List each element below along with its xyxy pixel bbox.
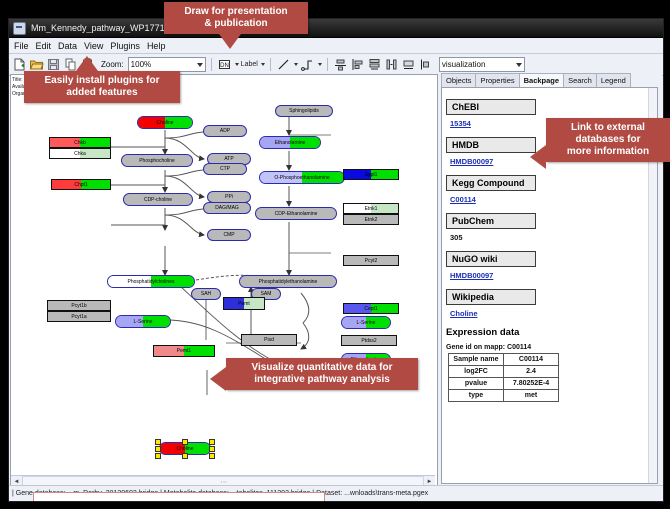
selection-handle-ne[interactable] — [209, 439, 215, 445]
connector-dropdown-icon[interactable] — [318, 63, 322, 66]
callout-draw: Draw for presentation & publication — [164, 2, 308, 34]
table-row: pvalue 7.80252E-4 — [449, 378, 559, 390]
db-header-wikipedia: Wikipedia — [446, 289, 536, 305]
metabolite-cdp-ethanolamine[interactable]: CDP-Ethanolamine — [255, 207, 337, 220]
db-header-kegg: Kegg Compound — [446, 175, 536, 191]
metabolite-sphingolipids[interactable]: Sphingolipids — [275, 105, 333, 117]
callout-plugins: Easily install plugins for added feature… — [24, 71, 180, 103]
tab-objects[interactable]: Objects — [441, 73, 476, 87]
node-label: CDP-Ethanolamine — [275, 211, 318, 217]
metabolite-cdp-choline[interactable]: CDP-choline — [123, 193, 193, 206]
tab-backpage[interactable]: Backpage — [519, 73, 564, 87]
datanode-dropdown-icon[interactable] — [235, 63, 239, 66]
selection-handle-se[interactable] — [209, 453, 215, 459]
chevron-down-icon-2 — [516, 63, 522, 67]
gene-pcyt1b[interactable]: Pcyt1b — [47, 300, 111, 311]
gene-pisd[interactable]: Pisd — [241, 334, 297, 346]
screenshot-frame: Mm_Kennedy_pathway_WP1771_45176.gpml Fil… — [0, 0, 670, 509]
gene-pcyt1a[interactable]: Pcyt1a — [47, 311, 111, 322]
db-header-hmdb: HMDB — [446, 137, 536, 153]
callout-draw-line2: & publication — [170, 18, 302, 30]
share-callout-text: Share on Wikipathways.org — [71, 500, 287, 502]
datanode-icon[interactable]: DN — [217, 57, 232, 72]
metabolite-dagmag[interactable]: DAG/MAG — [203, 202, 251, 214]
node-label: Sphingolipids — [289, 108, 319, 114]
gene-etnk1[interactable]: Etnk1 — [343, 203, 399, 214]
tab-legend[interactable]: Legend — [596, 73, 631, 87]
node-label: Pcyt2 — [365, 258, 378, 264]
order-icon[interactable] — [418, 57, 433, 72]
node-label: Ptdss2 — [361, 338, 376, 344]
metabolite-ctp[interactable]: CTP — [203, 163, 247, 175]
node-label: CTP — [220, 166, 230, 172]
pathway-canvas[interactable]: Title: Availa Organ — [11, 75, 435, 483]
node-label: DAG/MAG — [215, 205, 239, 211]
callout-plugins-arrow-icon — [76, 56, 98, 71]
zoom-select[interactable]: 100% — [128, 57, 206, 72]
chevron-down-icon — [197, 63, 203, 67]
align-left-icon[interactable] — [350, 57, 365, 72]
open-folder-icon[interactable] — [29, 57, 44, 72]
tab-search[interactable]: Search — [563, 73, 597, 87]
metabolite-sah[interactable]: SAH — [191, 288, 221, 300]
align-center-icon[interactable] — [333, 57, 348, 72]
selection-handle-sw[interactable] — [155, 453, 161, 459]
node-label: Sgpl1 — [365, 172, 378, 178]
node-label: Pcyt1a — [71, 314, 86, 320]
table-row: log2FC 2.4 — [449, 366, 559, 378]
visualization-value: visualization — [442, 60, 486, 69]
save-icon[interactable] — [46, 57, 61, 72]
menu-help[interactable]: Help — [147, 41, 166, 51]
node-label: SAM — [261, 291, 272, 297]
selection-handle-e[interactable] — [209, 446, 215, 452]
expr-key-type: type — [449, 390, 504, 402]
side-tabs: Objects Properties Backpage Search Legen… — [438, 73, 662, 87]
gene-chpt1[interactable]: Chpt1 — [51, 179, 111, 190]
toolbar-separator-3 — [327, 58, 328, 71]
line-dropdown-icon[interactable] — [294, 63, 298, 66]
metabolite-phosphocholine[interactable]: Phosphocholine — [121, 154, 193, 167]
callout-draw-arrow-icon — [219, 34, 241, 49]
node-label: ATP — [224, 156, 233, 162]
expr-key-pvalue: pvalue — [449, 378, 504, 390]
metabolite-o-phosphoethanolamine[interactable]: O-Phosphoethanolamine — [259, 171, 345, 184]
node-label: CMP — [223, 232, 234, 238]
node-label: CDP-choline — [144, 197, 172, 203]
gene-chka[interactable]: Chka — [49, 148, 111, 159]
gene-pemt[interactable]: Pemt — [223, 297, 265, 310]
selection-handle-nw[interactable] — [155, 439, 161, 445]
db-value-pubchem: 305 — [450, 233, 649, 242]
callout-links-line3: more information — [552, 146, 664, 158]
db-link-wikipedia[interactable]: Choline — [450, 309, 649, 318]
menu-view[interactable]: View — [84, 41, 103, 51]
node-label: Phosphocholine — [139, 158, 175, 164]
db-header-nugo: NuGO wiki — [446, 251, 536, 267]
expr-val-type: met — [504, 390, 559, 402]
gene-etnk2[interactable]: Etnk2 — [343, 214, 399, 225]
distribute-horizontal-icon[interactable] — [384, 57, 399, 72]
menu-plugins[interactable]: Plugins — [110, 41, 140, 51]
gene-chkb[interactable]: Chkb — [49, 137, 111, 148]
metabolite-l-serine-right[interactable]: L-Serine — [341, 316, 391, 329]
callout-plugins-line2: added features — [30, 87, 174, 99]
expr-key-sample: Sample name — [449, 354, 504, 366]
node-label: Cept1 — [364, 306, 377, 312]
node-label: Choline — [177, 446, 194, 452]
callout-links-arrow-icon — [530, 145, 546, 169]
metabolite-choline-top[interactable]: Choline — [137, 116, 193, 129]
node-label: SAH — [201, 291, 211, 297]
toolbar-separator-2 — [270, 58, 271, 71]
metabolite-cmp[interactable]: CMP — [207, 229, 251, 241]
metabolite-phosphatidylcholines[interactable]: Phosphatidylcholines — [107, 275, 195, 288]
callout-links: Link to external databases for more info… — [546, 118, 670, 162]
menu-data[interactable]: Data — [58, 41, 77, 51]
gene-pcyt2[interactable]: Pcyt2 — [343, 255, 399, 266]
expression-table: Sample name C00114 log2FC 2.4 pvalue 7.8… — [448, 353, 559, 402]
group-icon[interactable] — [401, 57, 416, 72]
callout-links-line1: Link to external — [552, 122, 664, 134]
gene-sgpl1[interactable]: Sgpl1 — [343, 169, 399, 180]
table-row: Sample name C00114 — [449, 354, 559, 366]
label-dropdown-icon[interactable] — [261, 63, 265, 66]
window-titlebar: Mm_Kennedy_pathway_WP1771_45176.gpml — [9, 19, 663, 38]
db-header-chebi: ChEBI — [446, 99, 536, 115]
node-label: Chka — [74, 151, 86, 157]
node-label: Etnk2 — [365, 217, 378, 223]
tab-properties[interactable]: Properties — [475, 73, 519, 87]
stack-vertical-icon[interactable] — [367, 57, 382, 72]
callout-visualize-line1: Visualize quantitative data for — [232, 362, 412, 374]
node-label: PPi — [225, 194, 233, 200]
node-label: Phosphatidylcholines — [128, 279, 175, 285]
node-label: Pisd — [264, 337, 274, 343]
node-label: Pcyt1b — [71, 303, 86, 309]
callout-visualize: Visualize quantitative data for integrat… — [226, 358, 418, 390]
app-icon — [13, 22, 26, 35]
toolbar-separator — [211, 58, 212, 71]
menubar: File Edit Data View Plugins Help — [9, 38, 663, 54]
label-tool-button[interactable]: Label — [241, 61, 258, 68]
menu-file[interactable]: File — [14, 41, 29, 51]
callout-plugins-line1: Easily install plugins for — [30, 75, 174, 87]
expr-key-log2fc: log2FC — [449, 366, 504, 378]
gene-cept1[interactable]: Cept1 — [343, 303, 399, 314]
gene-ptdss2[interactable]: Ptdss2 — [341, 335, 397, 346]
expr-val-log2fc: 2.4 — [504, 366, 559, 378]
db-link-kegg[interactable]: C00114 — [450, 195, 649, 204]
selection-handle-w[interactable] — [155, 446, 161, 452]
expr-val-pvalue: 7.80252E-4 — [504, 378, 559, 390]
node-label: O-Phosphoethanolamine — [274, 175, 329, 181]
metabolite-ethanolamine-top[interactable]: Ethanolamine — [259, 136, 321, 149]
gene-pemt1[interactable]: Pemt1 — [153, 345, 215, 357]
node-label: Phosphatidylethanolamine — [259, 279, 318, 285]
metabolite-phosphatidylethanolamine[interactable]: Phosphatidylethanolamine — [239, 275, 337, 288]
node-label: Chkb — [74, 140, 86, 146]
label-tool-text: Label — [241, 61, 258, 68]
node-label: L-Serine — [357, 320, 376, 326]
callout-visualize-line2: integrative pathway analysis — [232, 374, 412, 386]
share-callout-box: Share on Wikipathways.org — [33, 492, 325, 502]
db-link-nugo[interactable]: HMDB00097 — [450, 271, 649, 280]
selection-handle-n[interactable] — [182, 439, 188, 445]
zoom-value: 100% — [131, 60, 151, 69]
db-header-pubchem: PubChem — [446, 213, 536, 229]
callout-draw-line1: Draw for presentation — [170, 6, 302, 18]
table-row: type met — [449, 390, 559, 402]
expr-val-sample: C00114 — [504, 354, 559, 366]
menu-edit[interactable]: Edit — [36, 41, 52, 51]
node-label: Pemt1 — [177, 348, 191, 354]
visualization-select[interactable]: visualization — [439, 57, 525, 72]
metabolite-adp[interactable]: ADP — [203, 125, 247, 137]
pathway-canvas-panel[interactable]: Title: Availa Organ — [10, 74, 438, 502]
node-label: ADP — [220, 128, 230, 134]
svg-text:DN: DN — [220, 63, 229, 69]
callout-links-line2: databases for — [552, 134, 664, 146]
expression-data-heading: Expression data — [446, 327, 649, 338]
selection-handle-s[interactable] — [182, 453, 188, 459]
node-label: Choline — [157, 120, 174, 126]
zoom-label: Zoom: — [101, 60, 124, 69]
selection-group[interactable]: Choline — [155, 439, 215, 457]
new-file-icon[interactable] — [12, 57, 27, 72]
metabolite-l-serine-left[interactable]: L-Serine — [115, 315, 171, 328]
gene-id-line: Gene id on mapp: C00114 — [446, 344, 649, 351]
node-label: Ethanolamine — [275, 140, 306, 146]
node-label: Pemt — [238, 301, 250, 307]
node-label: Chpt1 — [74, 182, 87, 188]
node-label: Etnk1 — [365, 206, 378, 212]
node-label: L-Serine — [134, 319, 153, 325]
connector-tool-icon[interactable] — [300, 57, 315, 72]
callout-visualize-arrow-icon — [210, 367, 226, 391]
line-tool-icon[interactable] — [276, 57, 291, 72]
